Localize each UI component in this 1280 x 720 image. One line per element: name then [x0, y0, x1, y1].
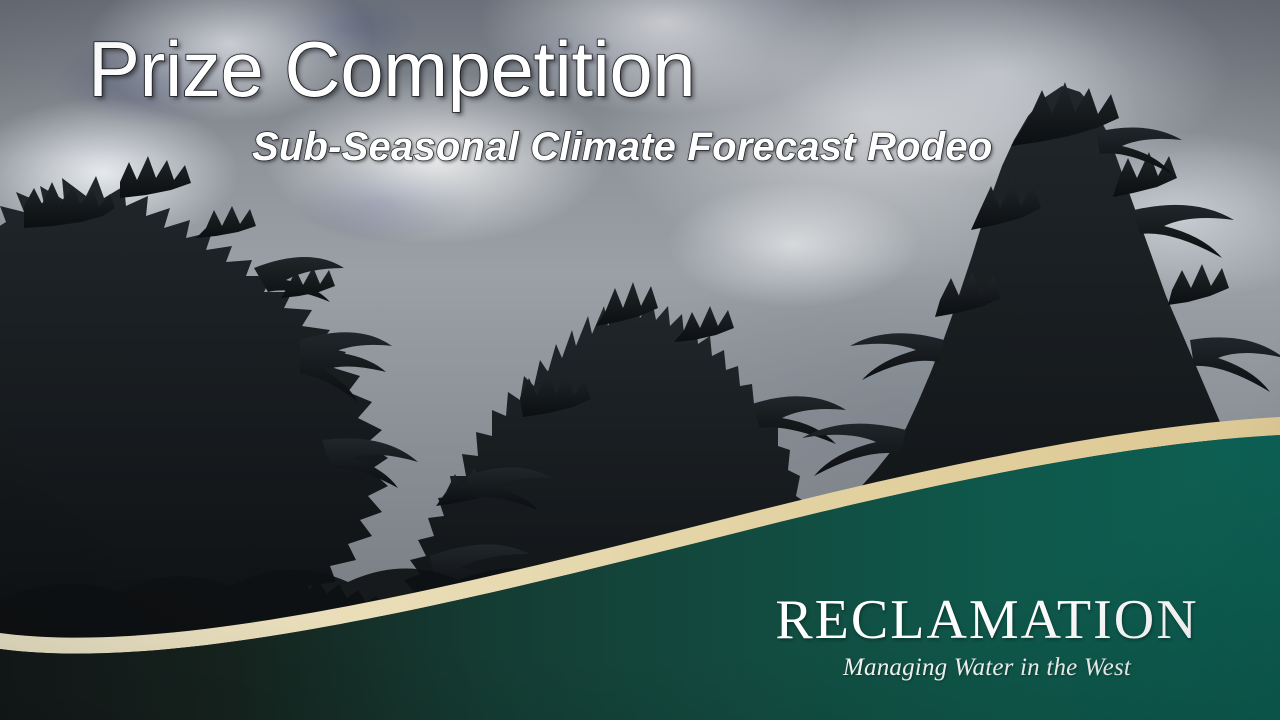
title-slide: Prize Competition Sub-Seasonal Climate F… [0, 0, 1280, 720]
sky-background [0, 0, 1280, 720]
